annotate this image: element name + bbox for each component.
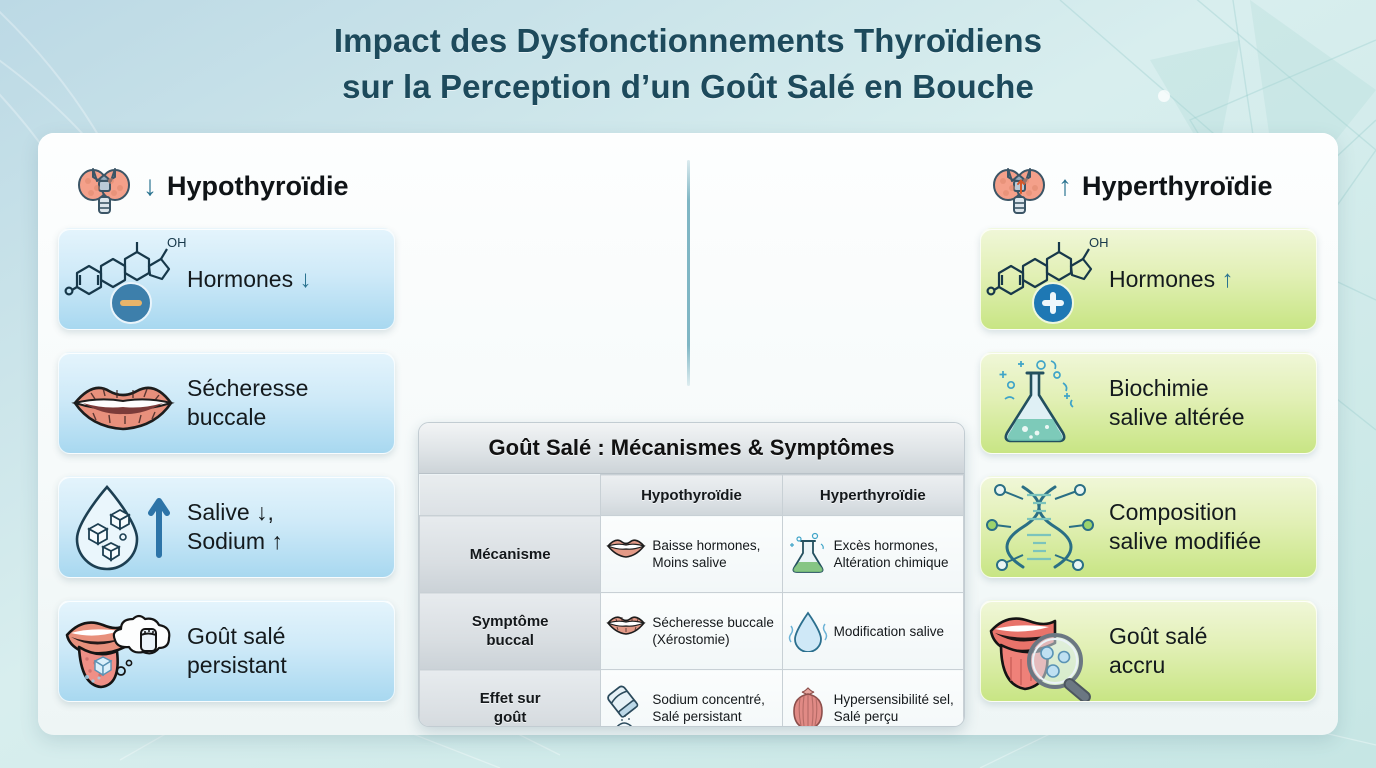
card-label: Hormones ↑: [1109, 265, 1242, 294]
card-text-line2: persistant: [187, 652, 287, 678]
card-text-line2: buccale: [187, 404, 266, 430]
cell-line2: (Xérostomie): [652, 632, 729, 647]
comparison-table: Goût Salé : Mécanismes & Symptômes Hypot…: [418, 422, 965, 727]
card-biochimie-salive[interactable]: Biochimie salive altérée: [980, 352, 1317, 454]
cell-line1: Sécheresse buccale: [652, 615, 774, 630]
table-header-hyperthyroidie: Hyperthyroïdie: [782, 475, 963, 516]
cell-text: Hypersensibilité sel, Salé perçu: [834, 691, 954, 725]
cell-text: Sodium concentré, Salé persistant: [652, 691, 765, 725]
taste-bud-icon: [787, 685, 829, 727]
column-title-left: Hypothyroïdie: [167, 171, 349, 202]
card-text: Hormones: [1109, 266, 1215, 292]
cell-text: Excès hormones, Altération chimique: [834, 537, 949, 571]
card-label: Sécheresse buccale: [187, 374, 316, 432]
column-title-right: Hyperthyroïdie: [1082, 171, 1273, 202]
cell-line2: Altération chimique: [834, 555, 949, 570]
row-label-effet-sur-gout: Effet sur goût: [420, 670, 601, 728]
tongue-magnifier-icon: [981, 601, 1109, 701]
tongue-salt-thought-icon: [59, 601, 187, 701]
card-gout-sale-persistant[interactable]: Goût salé persistant: [58, 600, 395, 702]
cell-effet-hyper: Hypersensibilité sel, Salé perçu: [782, 670, 963, 728]
water-drop-icon: [787, 608, 829, 654]
thyroid-icon: [75, 155, 133, 217]
card-hormones-down[interactable]: OH Hormones ↓: [58, 228, 395, 330]
card-composition-salive[interactable]: Composition salive modifiée: [980, 476, 1317, 578]
row-label-line1: Mécanisme: [470, 546, 551, 563]
steroid-molecule-plus-icon: OH: [981, 229, 1109, 329]
cell-symptome-hypo: Sécheresse buccale (Xérostomie): [601, 593, 782, 670]
column-divider: [687, 160, 690, 386]
table-row: Symptôme buccal: [420, 593, 964, 670]
card-label: Goût salé persistant: [187, 622, 295, 680]
card-text-line1: Goût salé: [1109, 623, 1207, 649]
table-row: Effet sur goût: [420, 670, 964, 728]
trend-arrow-down-icon: ↓: [143, 172, 157, 200]
card-text-line2: accru: [1109, 652, 1165, 678]
trend-arrow-up-icon: ↑: [1058, 172, 1072, 200]
card-hormones-up[interactable]: OH Hormones ↑: [980, 228, 1317, 330]
cell-line2: Salé perçu: [834, 709, 899, 724]
cell-effet-hypo: Sodium concentré, Salé persistant: [601, 670, 782, 728]
card-text-line1: Goût salé: [187, 623, 285, 649]
cell-line1: Excès hormones,: [834, 538, 938, 553]
infographic-canvas: Impact des Dysfonctionnements Thyroïdien…: [0, 0, 1376, 768]
dna-icon: [981, 477, 1109, 577]
cell-line1: Hypersensibilité sel,: [834, 692, 954, 707]
dry-lips-icon: [59, 353, 187, 453]
row-label-symptome-buccal: Symptôme buccal: [420, 593, 601, 670]
table-header-row: Hypothyroïdie Hyperthyroïdie: [420, 475, 964, 516]
table-caption: Goût Salé : Mécanismes & Symptômes: [419, 423, 964, 474]
card-text-line2: salive modifiée: [1109, 528, 1261, 554]
row-label-line1: Symptôme: [472, 613, 549, 630]
cell-mecanisme-hypo: Baisse hormones, Moins salive: [601, 516, 782, 593]
lips-icon: [605, 531, 647, 577]
title-line-1: Impact des Dysfonctionnements Thyroïdien…: [334, 22, 1042, 59]
cell-symptome-hyper: Modification salive: [782, 593, 963, 670]
page-title: Impact des Dysfonctionnements Thyroïdien…: [0, 18, 1376, 110]
steroid-molecule-minus-icon: OH: [59, 229, 187, 329]
row-label-mecanisme: Mécanisme: [420, 516, 601, 593]
water-drop-salt-icon: [59, 477, 187, 577]
row-label-line1: Effet sur: [480, 690, 541, 707]
card-gout-sale-accru[interactable]: Goût salé accru: [980, 600, 1317, 702]
card-label: Salive ↓, Sodium ↑: [187, 498, 291, 556]
card-label: Composition salive modifiée: [1109, 498, 1269, 556]
row-label-line2: buccal: [486, 632, 534, 649]
arrow-up-icon: ↑: [1222, 266, 1234, 293]
card-text-line1: Sécheresse: [187, 375, 308, 401]
table-header-hypothyroidie: Hypothyroïdie: [601, 475, 782, 516]
card-text: Hormones: [187, 266, 293, 292]
salt-shaker-icon: [605, 685, 647, 727]
cell-line2: Salé persistant: [652, 709, 741, 724]
card-label: Biochimie salive altérée: [1109, 374, 1253, 432]
cell-mecanisme-hyper: Excès hormones, Altération chimique: [782, 516, 963, 593]
cell-text: Modification salive: [834, 623, 944, 640]
table-row: Mécanisme Baisse hormones,: [420, 516, 964, 593]
flask-icon: [981, 353, 1109, 453]
column-header-hyperthyroidie: ↑ Hyperthyroïdie: [990, 155, 1273, 217]
column-header-hypothyroidie: ↓ Hypothyroïdie: [75, 155, 349, 217]
svg-text:OH: OH: [167, 235, 187, 250]
cell-line1: Modification salive: [834, 624, 944, 639]
card-label: Hormones ↓: [187, 265, 320, 294]
card-secheresse-buccale[interactable]: Sécheresse buccale: [58, 352, 395, 454]
cell-line1: Baisse hormones,: [652, 538, 760, 553]
card-text-line2: Sodium ↑: [187, 528, 283, 554]
card-label: Goût salé accru: [1109, 622, 1215, 680]
card-text-line1: Salive ↓,: [187, 499, 274, 525]
svg-text:OH: OH: [1089, 235, 1109, 250]
dry-lips-icon: [605, 608, 647, 654]
cell-text: Sécheresse buccale (Xérostomie): [652, 614, 774, 648]
row-label-line2: goût: [494, 709, 526, 726]
cell-line1: Sodium concentré,: [652, 692, 765, 707]
card-text-line1: Biochimie: [1109, 375, 1209, 401]
card-text-line2: salive altérée: [1109, 404, 1245, 430]
cell-text: Baisse hormones, Moins salive: [652, 537, 760, 571]
table-corner-cell: [420, 475, 601, 516]
flask-icon: [787, 531, 829, 577]
title-line-2: sur la Perception d’un Goût Salé en Bouc…: [0, 64, 1376, 110]
card-text-line1: Composition: [1109, 499, 1237, 525]
cell-line2: Moins salive: [652, 555, 726, 570]
card-salive-sodium[interactable]: Salive ↓, Sodium ↑: [58, 476, 395, 578]
thyroid-icon: [990, 155, 1048, 217]
arrow-down-icon: ↓: [300, 266, 312, 293]
